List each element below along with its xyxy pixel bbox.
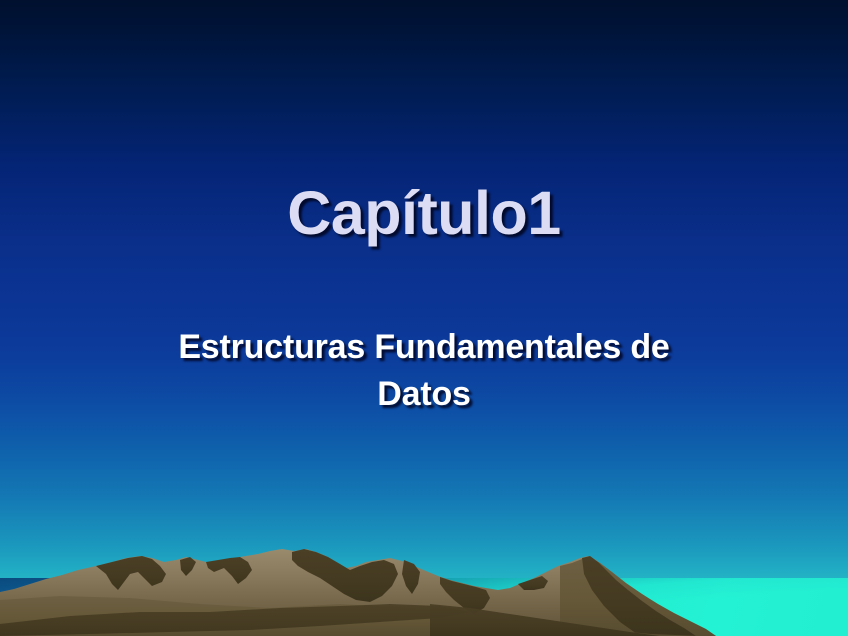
- slide-subtitle-line-1: Estructuras Fundamentales de: [104, 324, 744, 371]
- slide-title: Capítulo1: [0, 178, 848, 248]
- slide-subtitle-line-2: Datos: [104, 371, 744, 418]
- presentation-slide: Capítulo1 Estructuras Fundamentales de D…: [0, 0, 848, 636]
- ridge-shadow-small-peak: [518, 576, 548, 590]
- mountain-range-silhouette: [0, 0, 848, 636]
- slide-subtitle: Estructuras Fundamentales de Datos: [104, 324, 744, 418]
